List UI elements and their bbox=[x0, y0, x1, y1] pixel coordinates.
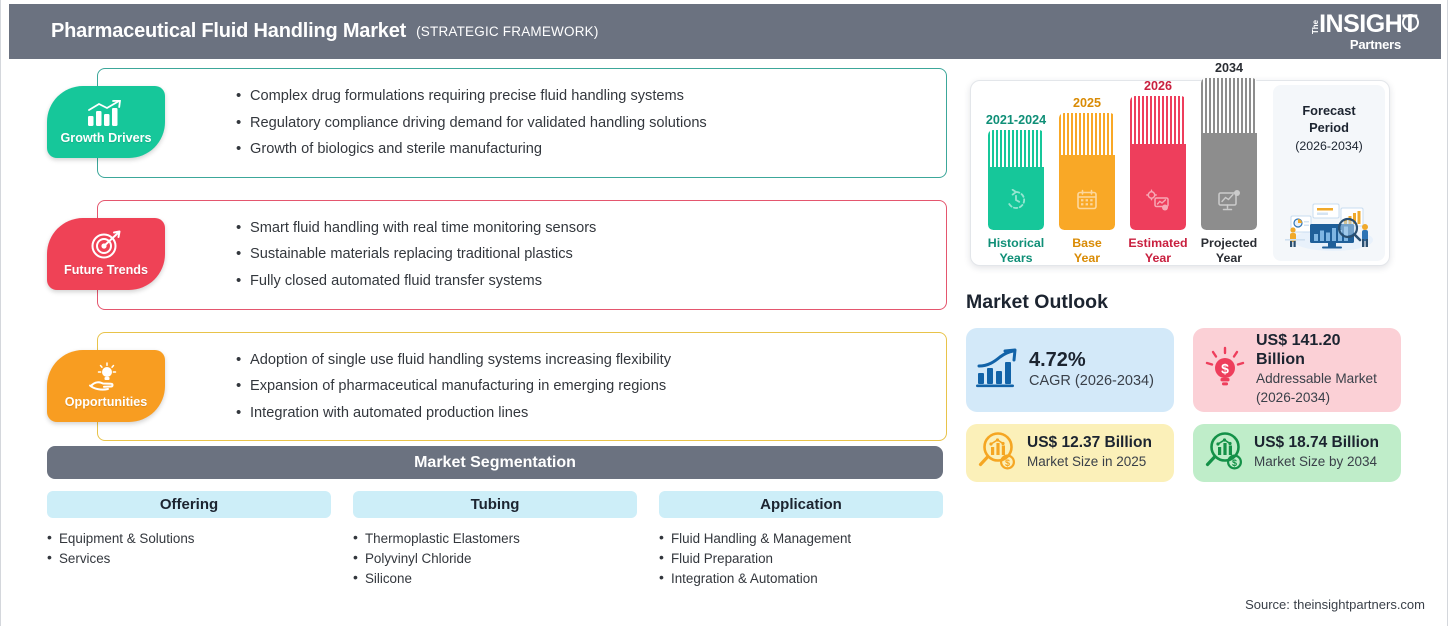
section-future-trends: Smart fluid handling with real time moni… bbox=[47, 200, 947, 310]
history-clock-icon bbox=[1005, 189, 1027, 216]
timeline-bar-projected: 2034 ProjectedYear bbox=[1198, 61, 1260, 265]
list-item: Regulatory compliance driving demand for… bbox=[236, 110, 926, 137]
list-item: Polyvinyl Chloride bbox=[353, 548, 637, 568]
magnifier-bars-icon: $ bbox=[1203, 430, 1245, 477]
bar-caption: BaseYear bbox=[1072, 236, 1102, 265]
opportunities-list: Adoption of single use fluid handling sy… bbox=[236, 347, 926, 427]
segmentation-column-title: Offering bbox=[47, 491, 331, 518]
list-item: Thermoplastic Elastomers bbox=[353, 528, 637, 548]
list-item: Adoption of single use fluid handling sy… bbox=[236, 347, 926, 374]
outlook-card-value: US$ 18.74 Billion bbox=[1254, 434, 1379, 451]
page-title: Pharmaceutical Fluid Handling Market bbox=[51, 20, 406, 43]
svg-text:$: $ bbox=[1221, 360, 1229, 376]
market-outlook-title: Market Outlook bbox=[966, 291, 1108, 314]
bar-year-label: 2034 bbox=[1215, 61, 1243, 75]
list-item: Complex drug formulations requiring prec… bbox=[236, 83, 926, 110]
segmentation-column-tubing: Tubing Thermoplastic Elastomers Polyviny… bbox=[353, 491, 637, 588]
growth-drivers-panel: Complex drug formulations requiring prec… bbox=[97, 68, 947, 178]
segmentation-column-list: Fluid Handling & Management Fluid Prepar… bbox=[659, 528, 943, 588]
timeline-bar-base: 2025 bbox=[1056, 96, 1118, 265]
calendar-icon bbox=[1076, 189, 1098, 216]
logo-partners-text: Partners bbox=[1350, 38, 1401, 51]
opportunities-panel: Adoption of single use fluid handling sy… bbox=[97, 332, 947, 442]
bar-column bbox=[1130, 96, 1186, 230]
segmentation-column-list: Equipment & Solutions Services bbox=[47, 528, 331, 568]
growth-drivers-badge[interactable]: Growth Drivers bbox=[47, 86, 165, 158]
bar-column bbox=[1201, 78, 1257, 230]
list-item: Growth of biologics and sterile manufact… bbox=[236, 136, 926, 163]
logo-circle-icon bbox=[1402, 14, 1419, 31]
future-trends-badge-label: Future Trends bbox=[64, 263, 148, 277]
list-item: Expansion of pharmaceutical manufacturin… bbox=[236, 373, 926, 400]
outlook-card-value: 4.72% bbox=[1029, 349, 1086, 371]
opportunities-badge[interactable]: Opportunities bbox=[47, 350, 165, 422]
growth-chart-icon bbox=[976, 348, 1020, 393]
outlook-card-sub: CAGR (2026-2034) bbox=[1029, 373, 1154, 389]
section-opportunities: Adoption of single use fluid handling sy… bbox=[47, 332, 947, 442]
bar-caption: EstimatedYear bbox=[1128, 236, 1187, 265]
future-trends-list: Smart fluid handling with real time moni… bbox=[236, 215, 926, 295]
insight-partners-logo: The INSIGHT Partners bbox=[1309, 12, 1423, 51]
outlook-card-sub: Addressable Market(2026-2034) bbox=[1256, 371, 1377, 405]
timeline-bars-card: 2021-2024 HistoricalYears bbox=[970, 80, 1390, 266]
outlook-card-addressable-market[interactable]: $ US$ 141.20 Billion Addressable Market(… bbox=[1193, 328, 1401, 412]
target-dart-icon bbox=[90, 230, 122, 260]
timeline-bar-estimated: 2026 bbox=[1127, 79, 1189, 265]
outlook-card-sub: Market Size by 2034 bbox=[1254, 454, 1377, 469]
list-item: Fully closed automated fluid transfer sy… bbox=[236, 268, 926, 295]
outlook-card-value: US$ 12.37 Billion bbox=[1027, 434, 1152, 451]
segmentation-column-application: Application Fluid Handling & Management … bbox=[659, 491, 943, 588]
market-outlook-cards: 4.72% CAGR (2026-2034) $ bbox=[966, 328, 1401, 482]
dollar-bulb-icon: $ bbox=[1203, 346, 1247, 395]
future-trends-panel: Smart fluid handling with real time moni… bbox=[97, 200, 947, 310]
segmentation-column-offering: Offering Equipment & Solutions Services bbox=[47, 491, 331, 588]
svg-text:$: $ bbox=[1232, 458, 1237, 468]
bar-column bbox=[988, 130, 1044, 230]
list-item: Integration with automated production li… bbox=[236, 400, 926, 427]
list-item: Fluid Handling & Management bbox=[659, 528, 943, 548]
analytics-gear-icon bbox=[1146, 189, 1170, 216]
list-item: Equipment & Solutions bbox=[47, 528, 331, 548]
analytics-illustration-icon bbox=[1277, 194, 1381, 257]
magnifier-bars-icon: $ bbox=[976, 430, 1018, 477]
outlook-card-cagr[interactable]: 4.72% CAGR (2026-2034) bbox=[966, 328, 1174, 412]
page-header: Pharmaceutical Fluid Handling Market (ST… bbox=[9, 4, 1441, 59]
market-segmentation: Market Segmentation Offering Equipment &… bbox=[47, 446, 943, 588]
opportunities-badge-label: Opportunities bbox=[65, 395, 148, 409]
logo-the-text: The bbox=[1312, 20, 1320, 34]
growth-drivers-list: Complex drug formulations requiring prec… bbox=[236, 83, 926, 163]
segmentation-title: Market Segmentation bbox=[47, 446, 943, 479]
strategic-sections: Complex drug formulations requiring prec… bbox=[47, 68, 947, 441]
list-item: Services bbox=[47, 548, 331, 568]
bar-chart-up-icon bbox=[86, 100, 126, 128]
bar-column bbox=[1059, 113, 1115, 230]
bar-caption: ProjectedYear bbox=[1201, 236, 1257, 265]
source-attribution: Source: theinsightpartners.com bbox=[1245, 597, 1425, 612]
list-item: Smart fluid handling with real time moni… bbox=[236, 215, 926, 242]
infographic-page: Pharmaceutical Fluid Handling Market (ST… bbox=[0, 0, 1448, 626]
forecast-period-box: ForecastPeriod (2026-2034) bbox=[1273, 85, 1385, 261]
future-trends-badge[interactable]: Future Trends bbox=[47, 218, 165, 290]
segmentation-column-title: Application bbox=[659, 491, 943, 518]
hand-lightbulb-icon bbox=[86, 362, 126, 392]
segmentation-column-list: Thermoplastic Elastomers Polyvinyl Chlor… bbox=[353, 528, 637, 588]
presentation-chart-icon bbox=[1217, 189, 1241, 216]
bar-year-label: 2021-2024 bbox=[986, 113, 1046, 127]
outlook-card-value: US$ 141.20 Billion bbox=[1256, 332, 1341, 368]
section-growth-drivers: Complex drug formulations requiring prec… bbox=[47, 68, 947, 178]
svg-text:$: $ bbox=[1005, 458, 1010, 468]
bar-year-label: 2026 bbox=[1144, 79, 1172, 93]
bar-year-label: 2025 bbox=[1073, 96, 1101, 110]
timeline-bar-historical: 2021-2024 HistoricalYears bbox=[985, 113, 1047, 265]
forecast-title: ForecastPeriod bbox=[1302, 103, 1355, 136]
growth-drivers-badge-label: Growth Drivers bbox=[61, 131, 152, 145]
list-item: Integration & Automation bbox=[659, 568, 943, 588]
outlook-card-market-size-2025[interactable]: $ US$ 12.37 Billion Market Size in 2025 bbox=[966, 424, 1174, 482]
outlook-card-sub: Market Size in 2025 bbox=[1027, 454, 1146, 469]
bar-caption: HistoricalYears bbox=[988, 236, 1044, 265]
forecast-range: (2026-2034) bbox=[1295, 139, 1363, 153]
list-item: Silicone bbox=[353, 568, 637, 588]
segmentation-column-title: Tubing bbox=[353, 491, 637, 518]
list-item: Sustainable materials replacing traditio… bbox=[236, 241, 926, 268]
outlook-card-market-size-2034[interactable]: $ US$ 18.74 Billion Market Size by 2034 bbox=[1193, 424, 1401, 482]
page-subtitle: (STRATEGIC FRAMEWORK) bbox=[416, 24, 598, 39]
list-item: Fluid Preparation bbox=[659, 548, 943, 568]
